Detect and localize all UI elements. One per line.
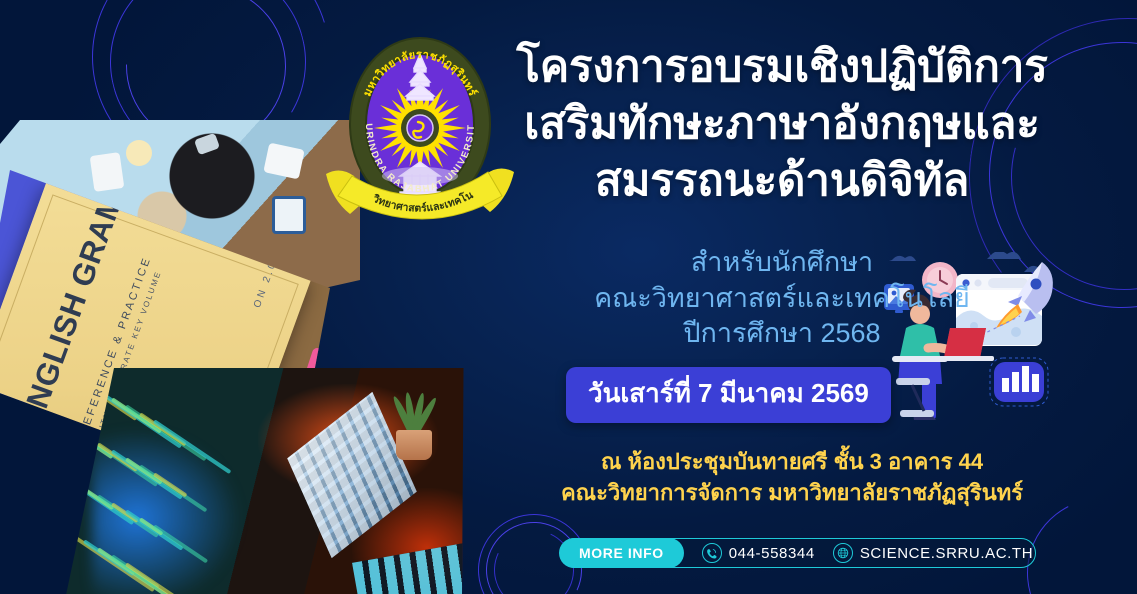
page-title: โครงการอบรมเชิงปฏิบัติการ เสริมทักษะภาษา… bbox=[492, 38, 1072, 210]
bar-chart-icon bbox=[990, 358, 1048, 406]
title-line-2: เสริมทักษะภาษาอังกฤษและ bbox=[492, 95, 1072, 152]
website-url: SCIENCE.SRRU.AC.TH bbox=[860, 545, 1033, 562]
venue-line-1: ณ ห้องประชุมบันทายศรี ชั้น 3 อาคาร 44 bbox=[512, 446, 1072, 477]
poster-canvas: ENGLISH GRAMMAR REFERENCE & PRACTICE WIT… bbox=[0, 0, 1137, 594]
stool-seat bbox=[896, 378, 930, 385]
desk-surface bbox=[892, 356, 948, 362]
subtitle: สำหรับนักศึกษา คณะวิทยาศาสตร์และเทคโนโลย… bbox=[492, 245, 1072, 352]
code-screen-rgb-keyboard-photo bbox=[62, 368, 482, 594]
subtitle-line-3: ปีการศึกษา 2568 bbox=[492, 316, 1072, 352]
sticker bbox=[90, 152, 125, 192]
sticker bbox=[263, 143, 304, 180]
footrest bbox=[900, 410, 934, 417]
phone-icon bbox=[702, 543, 722, 563]
phone-contact[interactable]: 044-558344 bbox=[702, 543, 815, 563]
globe-icon bbox=[833, 543, 853, 563]
more-info-button[interactable]: MORE INFO bbox=[559, 538, 684, 568]
title-line-1: โครงการอบรมเชิงปฏิบัติการ bbox=[492, 38, 1072, 95]
potted-plant bbox=[382, 384, 446, 460]
subtitle-line-2: คณะวิทยาศาสตร์และเทคโนโลยี bbox=[492, 281, 1072, 317]
event-date-badge: วันเสาร์ที่ 7 มีนาคม 2569 bbox=[566, 367, 891, 423]
sticker bbox=[126, 140, 152, 166]
sticker bbox=[272, 196, 306, 234]
surindra-rajabhat-university-seal: มหาวิทยาลัยราชภัฏสุรินทร์ SURINDRA RAJAB… bbox=[322, 24, 518, 224]
phone-number: 044-558344 bbox=[729, 545, 815, 562]
venue-line-2: คณะวิทยาการจัดการ มหาวิทยาลัยราชภัฏสุริน… bbox=[512, 477, 1072, 508]
venue-info: ณ ห้องประชุมบันทายศรี ชั้น 3 อาคาร 44 คณ… bbox=[512, 446, 1072, 508]
website-contact[interactable]: SCIENCE.SRRU.AC.TH bbox=[833, 543, 1033, 563]
title-line-3: สมรรถนะด้านดิจิทัล bbox=[492, 152, 1072, 209]
sticker bbox=[194, 133, 220, 156]
subtitle-line-1: สำหรับนักศึกษา bbox=[492, 245, 1072, 281]
contact-bar: MORE INFO 044-558344 SCIENCE.S bbox=[560, 538, 1036, 568]
